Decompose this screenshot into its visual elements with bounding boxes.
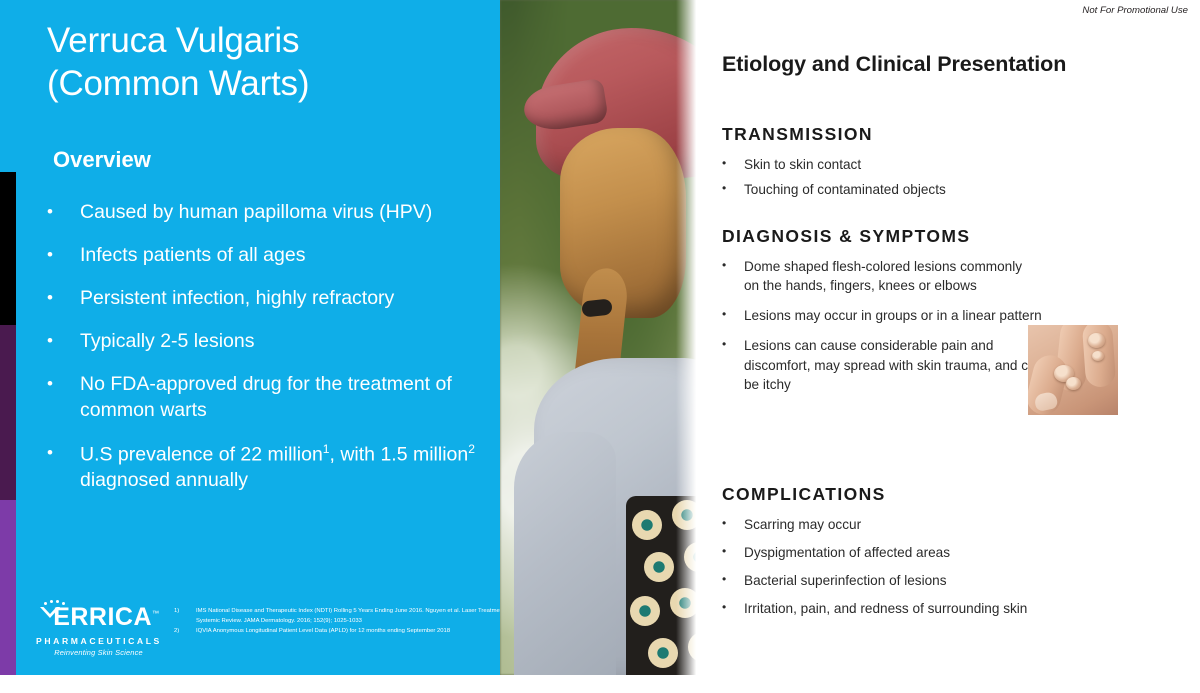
bullet-marker-icon: • (722, 543, 744, 562)
section-bullet: •Dome shaped flesh-colored lesions commo… (722, 257, 1052, 295)
bullet-marker-icon: • (722, 306, 744, 325)
section-bullet-text: Dyspigmentation of affected areas (744, 543, 1142, 562)
bullet-marker-icon: • (722, 155, 744, 174)
photo-arm (514, 432, 616, 675)
logo-wordmark: VERRICA™ (36, 605, 161, 630)
section-diagnosis-symptoms: DIAGNOSIS & SYMPTOMS •Dome shaped flesh-… (722, 226, 1052, 405)
overview-bullet: •Caused by human papilloma virus (HPV) (47, 200, 477, 226)
bullet-marker-icon: • (722, 336, 744, 393)
overview-bullet-list: •Caused by human papilloma virus (HPV)•I… (47, 200, 477, 511)
bullet-marker-icon: • (47, 286, 80, 312)
bullet-marker-icon: • (722, 515, 744, 534)
section-bullet-text: Lesions may occur in groups or in a line… (744, 306, 1052, 325)
patient-photo (500, 0, 698, 675)
bullet-marker-icon: • (47, 200, 80, 226)
footnote-text: IMS National Disease and Therapeutic Ind… (196, 606, 500, 626)
slide-title-line: (Common Warts) (47, 63, 477, 106)
left-title-panel: Verruca Vulgaris(Common Warts) Overview … (0, 0, 500, 675)
section-bullet-text: Irritation, pain, and redness of surroun… (744, 599, 1142, 618)
overview-bullet: •Persistent infection, highly refractory (47, 286, 477, 312)
bullet-marker-icon: • (47, 329, 80, 355)
section-bullet: •Skin to skin contact (722, 155, 1052, 174)
section-transmission: TRANSMISSION •Skin to skin contact•Touch… (722, 124, 1052, 205)
bullet-marker-icon: • (722, 257, 744, 295)
overview-bullet-text: No FDA-approved drug for the treatment o… (80, 372, 477, 424)
right-panel-title: Etiology and Clinical Presentation (722, 52, 1066, 77)
verrica-logo: VERRICA™ PHARMACEUTICALS Reinventing Ski… (36, 600, 161, 657)
logo-tagline: Reinventing Skin Science (36, 648, 161, 657)
overview-bullet-text: Infects patients of all ages (80, 243, 477, 269)
footnote-number: 2) (174, 626, 196, 636)
section-bullet-text: Touching of contaminated objects (744, 180, 1052, 199)
slide-title: Verruca Vulgaris(Common Warts) (47, 20, 477, 105)
section-bullet-list: •Dome shaped flesh-colored lesions commo… (722, 257, 1052, 394)
overview-bullet-text: Persistent infection, highly refractory (80, 286, 477, 312)
right-content-panel: Not For Promotional Use Etiology and Cli… (698, 0, 1200, 675)
overview-bullet: •U.S prevalence of 22 million1, with 1.5… (47, 441, 477, 494)
disclaimer-text: Not For Promotional Use (1082, 5, 1188, 16)
photo-edge-fade (676, 0, 698, 675)
clinical-wart-photo (1028, 325, 1118, 415)
accent-bar-purple (0, 500, 16, 675)
logo-trademark-icon: ™ (152, 611, 160, 618)
overview-bullet-text: U.S prevalence of 22 million1, with 1.5 … (80, 441, 477, 494)
section-heading: DIAGNOSIS & SYMPTOMS (722, 226, 1052, 247)
footnote-item: 1)IMS National Disease and Therapeutic I… (174, 606, 500, 626)
section-bullet: •Dyspigmentation of affected areas (722, 543, 1142, 562)
section-bullet-text: Lesions can cause considerable pain and … (744, 336, 1052, 393)
section-complications: COMPLICATIONS •Scarring may occur•Dyspig… (722, 484, 1142, 628)
slide-title-line: Verruca Vulgaris (47, 20, 477, 63)
section-bullet: •Lesions can cause considerable pain and… (722, 336, 1052, 393)
bullet-marker-icon: • (722, 571, 744, 590)
section-bullet-text: Scarring may occur (744, 515, 1142, 534)
section-bullet-list: •Scarring may occur•Dyspigmentation of a… (722, 515, 1142, 619)
section-bullet: •Scarring may occur (722, 515, 1142, 534)
overview-bullet: •Infects patients of all ages (47, 243, 477, 269)
bullet-marker-icon: • (47, 441, 80, 494)
footnote-number: 1) (174, 606, 196, 626)
logo-wordmark-text: ERRICA (53, 603, 152, 631)
bullet-marker-icon: • (722, 180, 744, 199)
accent-bar-plum (0, 325, 16, 500)
logo-mark: VERRICA™ (36, 600, 161, 634)
section-bullet: •Lesions may occur in groups or in a lin… (722, 306, 1052, 325)
overview-heading: Overview (53, 147, 151, 173)
section-bullet: •Touching of contaminated objects (722, 180, 1052, 199)
wart-lesion (1092, 351, 1104, 361)
overview-bullet: •No FDA-approved drug for the treatment … (47, 372, 477, 424)
bullet-marker-icon: • (722, 599, 744, 618)
overview-bullet-text: Caused by human papilloma virus (HPV) (80, 200, 477, 226)
section-bullet: •Bacterial superinfection of lesions (722, 571, 1142, 590)
overview-bullet-text: Typically 2-5 lesions (80, 329, 477, 355)
section-bullet-list: •Skin to skin contact•Touching of contam… (722, 155, 1052, 199)
section-bullet-text: Dome shaped flesh-colored lesions common… (744, 257, 1052, 295)
bullet-marker-icon: • (47, 243, 80, 269)
section-heading: TRANSMISSION (722, 124, 1052, 145)
section-heading: COMPLICATIONS (722, 484, 1142, 505)
overview-bullet: •Typically 2-5 lesions (47, 329, 477, 355)
footnote-list: 1)IMS National Disease and Therapeutic I… (174, 606, 500, 636)
section-bullet-text: Skin to skin contact (744, 155, 1052, 174)
accent-bar-black (0, 172, 16, 325)
bullet-marker-icon: • (47, 372, 80, 424)
section-bullet-text: Bacterial superinfection of lesions (744, 571, 1142, 590)
footnote-text: IQVIA Anonymous Longitudinal Patient Lev… (196, 626, 500, 636)
section-bullet: •Irritation, pain, and redness of surrou… (722, 599, 1142, 618)
logo-subtitle: PHARMACEUTICALS (36, 636, 161, 646)
wart-lesion (1088, 333, 1105, 348)
footnote-item: 2)IQVIA Anonymous Longitudinal Patient L… (174, 626, 500, 636)
wart-lesion (1066, 377, 1081, 390)
